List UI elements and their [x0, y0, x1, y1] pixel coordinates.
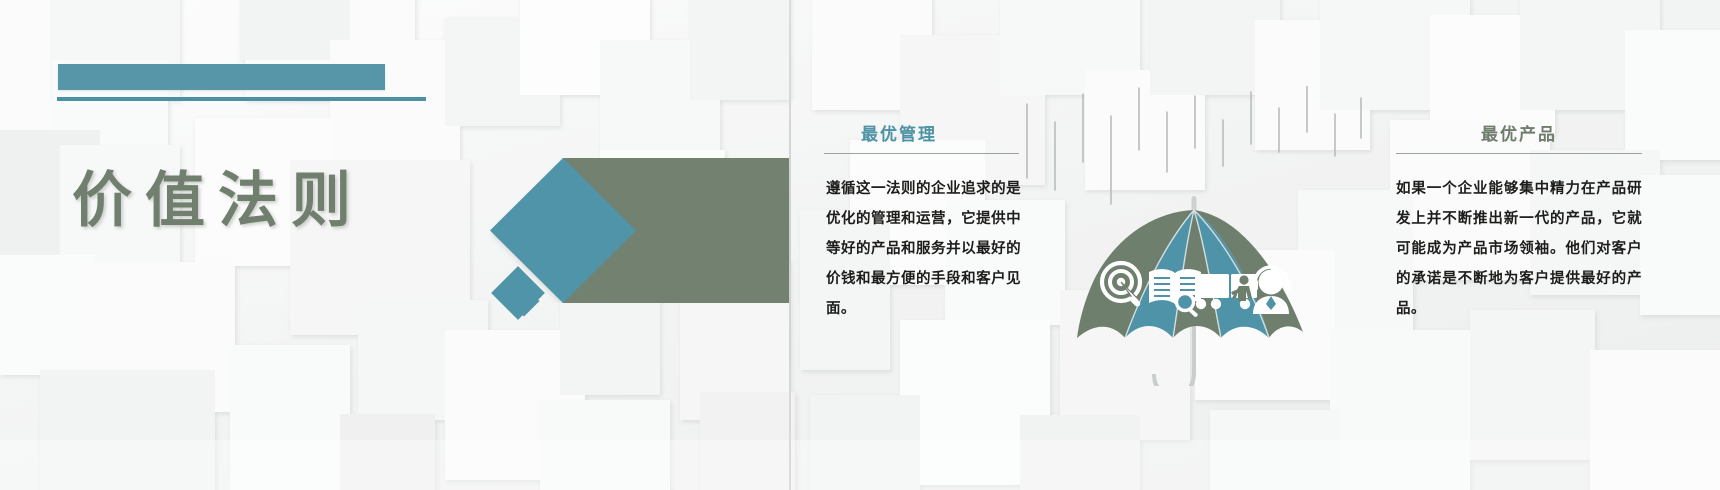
accent-rule — [57, 97, 426, 101]
column-rule-management — [824, 153, 1019, 154]
column-body-management: 遵循这一法则的企业追求的是优化的管理和运营，它提供中等好的产品和服务并以最好的价… — [826, 174, 1021, 324]
column-best-product: 最优产品 如果一个企业能够集中精力在产品研发上并不断推出新一代的产品，它就可能成… — [1396, 0, 1642, 490]
column-rule-product — [1396, 153, 1642, 154]
rain-lines — [1027, 86, 1361, 204]
slide-canvas: 价值法则 — [0, 0, 1720, 490]
column-body-product: 如果一个企业能够集中精力在产品研发上并不断推出新一代的产品，它就可能成为产品市场… — [1396, 174, 1642, 324]
column-best-management: 最优管理 遵循这一法则的企业追求的是优化的管理和运营，它提供中等好的产品和服务并… — [806, 0, 1018, 490]
column-heading-product: 最优产品 — [1396, 120, 1642, 145]
umbrella-illustration — [1015, 86, 1375, 386]
page-title: 价值法则 — [72, 168, 492, 234]
column-heading-management: 最优管理 — [861, 120, 937, 145]
panel-divider — [789, 0, 791, 490]
left-title-panel: 价值法则 — [0, 0, 790, 490]
accent-bar-top — [58, 64, 385, 90]
